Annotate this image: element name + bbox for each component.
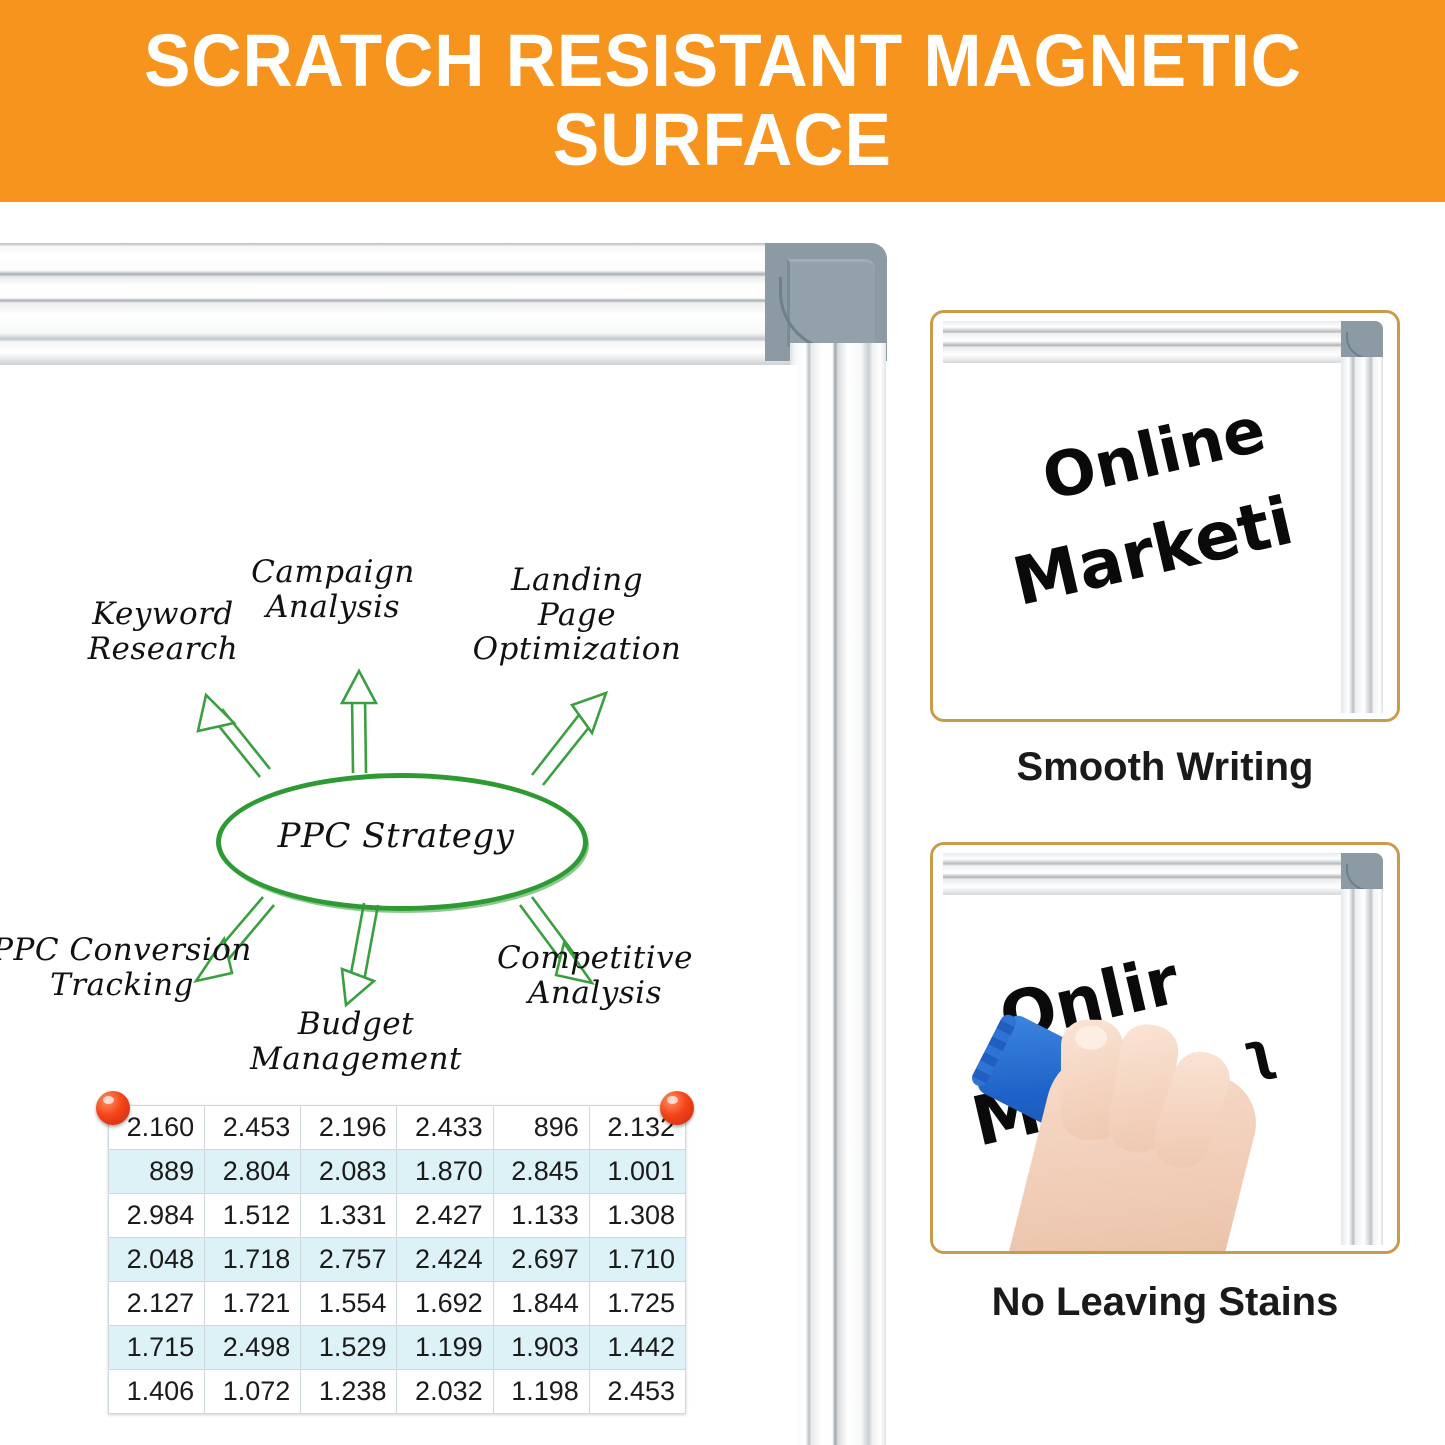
banner-headline-line1: SCRATCH RESISTANT MAGNETIC	[144, 25, 1302, 98]
table-cell: 1.870	[397, 1150, 493, 1194]
table-cell: 1.844	[493, 1282, 589, 1326]
table-cell: 1.442	[589, 1326, 685, 1370]
table-row: 2.0481.7182.7572.4242.6971.710	[109, 1238, 686, 1282]
table-cell: 2.757	[301, 1238, 397, 1282]
table-cell: 2.984	[109, 1194, 205, 1238]
inset-stains-corner-arc	[1346, 864, 1373, 891]
table-cell: 2.453	[205, 1106, 301, 1150]
whiteboard-right-rail	[790, 343, 886, 1445]
ppc-strategy-mindmap: PPC Strategy Keyword Research Campaign A…	[0, 545, 760, 1065]
table-cell: 2.032	[397, 1370, 493, 1414]
header-banner: SCRATCH RESISTANT MAGNETIC SURFACE	[0, 0, 1445, 202]
table-row: 2.9841.5121.3312.4271.1331.308	[109, 1194, 686, 1238]
inset-smooth-writing-board: Online Marketi	[933, 313, 1397, 719]
magnet-top-right[interactable]	[660, 1091, 694, 1125]
data-table: 2.1602.4532.1962.4338962.1328892.8042.08…	[108, 1105, 686, 1414]
table-row: 8892.8042.0831.8702.8451.001	[109, 1150, 686, 1194]
magnet-top-left[interactable]	[96, 1091, 130, 1125]
inset-no-leaving-stains: Onlir M ʅ	[930, 842, 1400, 1254]
inset-stains-handwriting-fragment: ʅ	[1237, 1020, 1281, 1086]
table-cell: 2.127	[109, 1282, 205, 1326]
inset-smooth-corner-bracket	[1341, 321, 1383, 361]
data-table-body: 2.1602.4532.1962.4338962.1328892.8042.08…	[109, 1106, 686, 1414]
table-cell: 1.721	[205, 1282, 301, 1326]
table-cell: 1.554	[301, 1282, 397, 1326]
inset-stains-right-rail	[1341, 889, 1383, 1245]
table-cell: 1.725	[589, 1282, 685, 1326]
inset-smooth-corner-arc	[1346, 332, 1373, 359]
inset-smooth-top-rail	[943, 321, 1345, 363]
table-cell: 2.697	[493, 1238, 589, 1282]
mindmap-branch-ppc-conversion: PPC Conversion Tracking	[0, 933, 272, 1002]
mindmap-branch-competitive-analysis: Competitive Analysis	[470, 941, 720, 1010]
inset-smooth-writing: Online Marketi	[930, 310, 1400, 722]
table-cell: 1.903	[493, 1326, 589, 1370]
table-cell: 2.196	[301, 1106, 397, 1150]
table-row: 1.7152.4981.5291.1991.9031.442	[109, 1326, 686, 1370]
table-row: 1.4061.0721.2382.0321.1982.453	[109, 1370, 686, 1414]
inset-stains-board: Onlir M ʅ	[933, 845, 1397, 1251]
whiteboard-top-rail	[0, 243, 840, 368]
table-cell: 1.692	[397, 1282, 493, 1326]
table-cell: 2.845	[493, 1150, 589, 1194]
table-cell: 1.199	[397, 1326, 493, 1370]
inset-smooth-right-rail	[1341, 357, 1383, 713]
mindmap-branch-landing-page: Landing Page Optimization	[452, 563, 702, 667]
table-row: 2.1602.4532.1962.4338962.132	[109, 1106, 686, 1150]
table-cell: 2.453	[589, 1370, 685, 1414]
table-cell: 2.427	[397, 1194, 493, 1238]
table-cell: 2.804	[205, 1150, 301, 1194]
inset-stains-top-rail	[943, 853, 1345, 895]
table-cell: 889	[109, 1150, 205, 1194]
table-cell: 1.308	[589, 1194, 685, 1238]
table-cell: 1.406	[109, 1370, 205, 1414]
whiteboard-surface: PPC Strategy Keyword Research Campaign A…	[0, 365, 798, 1445]
table-cell: 2.433	[397, 1106, 493, 1150]
main-whiteboard: PPC Strategy Keyword Research Campaign A…	[0, 243, 880, 1445]
table-row: 2.1271.7211.5541.6921.8441.725	[109, 1282, 686, 1326]
table-cell: 1.718	[205, 1238, 301, 1282]
table-cell: 1.238	[301, 1370, 397, 1414]
table-cell: 896	[493, 1106, 589, 1150]
table-cell: 1.710	[589, 1238, 685, 1282]
table-cell: 1.133	[493, 1194, 589, 1238]
mindmap-branch-campaign-analysis: Campaign Analysis	[218, 555, 448, 624]
table-cell: 2.083	[301, 1150, 397, 1194]
table-cell: 2.424	[397, 1238, 493, 1282]
table-cell: 1.512	[205, 1194, 301, 1238]
inset-stains-corner-bracket	[1341, 853, 1383, 893]
table-cell: 1.001	[589, 1150, 685, 1194]
table-cell: 1.715	[109, 1326, 205, 1370]
table-cell: 1.198	[493, 1370, 589, 1414]
caption-no-leaving-stains: No Leaving Stains	[920, 1280, 1410, 1325]
mindmap-center-label: PPC Strategy	[246, 808, 546, 864]
magnetic-data-table-wrap: 2.1602.4532.1962.4338962.1328892.8042.08…	[108, 1105, 686, 1414]
caption-smooth-writing: Smooth Writing	[920, 745, 1410, 790]
table-cell: 1.331	[301, 1194, 397, 1238]
mindmap-branch-budget-management: Budget Management	[216, 1007, 496, 1076]
banner-headline-line2: SURFACE	[553, 104, 892, 177]
table-cell: 2.498	[205, 1326, 301, 1370]
table-cell: 1.529	[301, 1326, 397, 1370]
table-cell: 2.048	[109, 1238, 205, 1282]
fingernail	[1075, 1026, 1107, 1050]
table-cell: 1.072	[205, 1370, 301, 1414]
